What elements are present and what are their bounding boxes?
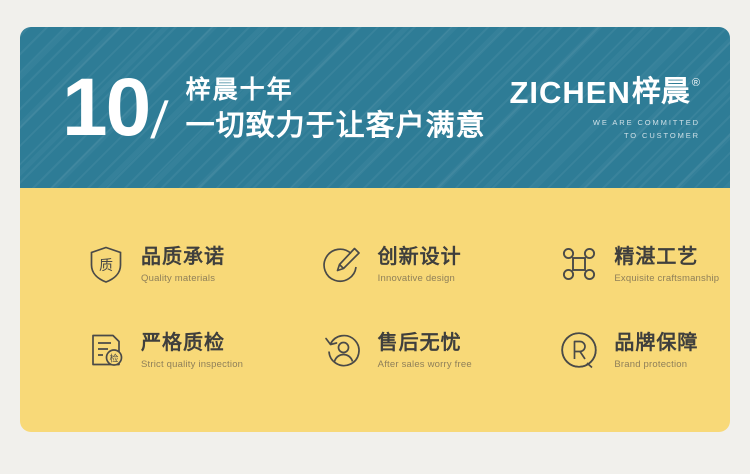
- logo-wordmark: ZICHEN 梓晨 ®: [509, 77, 700, 108]
- feature-title-cn: 严格质检: [141, 330, 243, 355]
- feature-title-en: Brand protection: [614, 359, 698, 370]
- feature-title-en: Strict quality inspection: [141, 359, 243, 370]
- feature-title-cn: 创新设计: [378, 244, 462, 269]
- after-sales-person-icon: [322, 329, 364, 371]
- slash-divider: /: [149, 91, 170, 151]
- feature-title-en: Exquisite craftsmanship: [614, 273, 719, 284]
- logo-tagline-line-2: TO CUSTOMER: [509, 130, 700, 143]
- feature-title-cn: 品质承诺: [141, 244, 225, 269]
- feature-quality-materials: 质 品质承诺 Quality materials: [20, 221, 257, 307]
- hero-headline-group: 10 / 梓晨十年 一切致力于让客户满意: [62, 27, 486, 188]
- feature-title-en: Quality materials: [141, 273, 225, 284]
- headline-line-1: 梓晨十年: [186, 73, 486, 107]
- feature-innovative-design: 创新设计 Innovative design: [257, 221, 494, 307]
- logo-cjk-text: 梓晨: [632, 77, 690, 106]
- feature-text-block: 严格质检 Strict quality inspection: [141, 330, 243, 370]
- inspection-icon-glyph: 检: [109, 353, 118, 365]
- feature-brand-protection: 品牌保障 Brand protection: [493, 307, 730, 393]
- shield-quality-icon: 质: [85, 243, 127, 285]
- feature-title-en: Innovative design: [378, 273, 462, 284]
- feature-title-cn: 售后无忧: [378, 330, 472, 355]
- brand-logo: ZICHEN 梓晨 ® WE ARE COMMITTED TO CUSTOMER: [509, 77, 700, 143]
- feature-text-block: 售后无忧 After sales worry free: [378, 330, 472, 370]
- registered-brand-icon: [558, 329, 600, 371]
- document-inspection-icon: 检: [85, 329, 127, 371]
- feature-text-block: 品牌保障 Brand protection: [614, 330, 698, 370]
- feature-strict-quality-inspection: 检 严格质检 Strict quality inspection: [20, 307, 257, 393]
- feature-text-block: 精湛工艺 Exquisite craftsmanship: [614, 244, 719, 284]
- promo-banner: 10 / 梓晨十年 一切致力于让客户满意 ZICHEN 梓晨 ® WE ARE …: [20, 27, 730, 432]
- craftsmanship-loop-icon: [558, 243, 600, 285]
- features-row-1: 质 品质承诺 Quality materials 创新设计: [20, 221, 730, 307]
- features-section: 质 品质承诺 Quality materials 创新设计: [20, 188, 730, 432]
- headline-line-2: 一切致力于让客户满意: [186, 107, 486, 145]
- shield-icon-glyph: 质: [99, 258, 113, 274]
- features-row-2: 检 严格质检 Strict quality inspection: [20, 307, 730, 393]
- anniversary-number: 10: [62, 71, 149, 145]
- logo-latin-text: ZICHEN: [509, 77, 630, 108]
- feature-title-en: After sales worry free: [378, 359, 472, 370]
- registered-trademark-icon: ®: [692, 78, 700, 89]
- feature-title-cn: 品牌保障: [614, 330, 698, 355]
- feature-title-cn: 精湛工艺: [614, 244, 719, 269]
- feature-text-block: 创新设计 Innovative design: [378, 244, 462, 284]
- pencil-design-icon: [322, 243, 364, 285]
- hero-section: 10 / 梓晨十年 一切致力于让客户满意 ZICHEN 梓晨 ® WE ARE …: [20, 27, 730, 188]
- feature-after-sales-worry-free: 售后无忧 After sales worry free: [257, 307, 494, 393]
- feature-exquisite-craftsmanship: 精湛工艺 Exquisite craftsmanship: [493, 221, 730, 307]
- logo-tagline-line-1: WE ARE COMMITTED: [509, 117, 700, 130]
- headline-text-block: 梓晨十年 一切致力于让客户满意: [186, 73, 486, 144]
- logo-tagline: WE ARE COMMITTED TO CUSTOMER: [509, 117, 700, 143]
- feature-text-block: 品质承诺 Quality materials: [141, 244, 225, 284]
